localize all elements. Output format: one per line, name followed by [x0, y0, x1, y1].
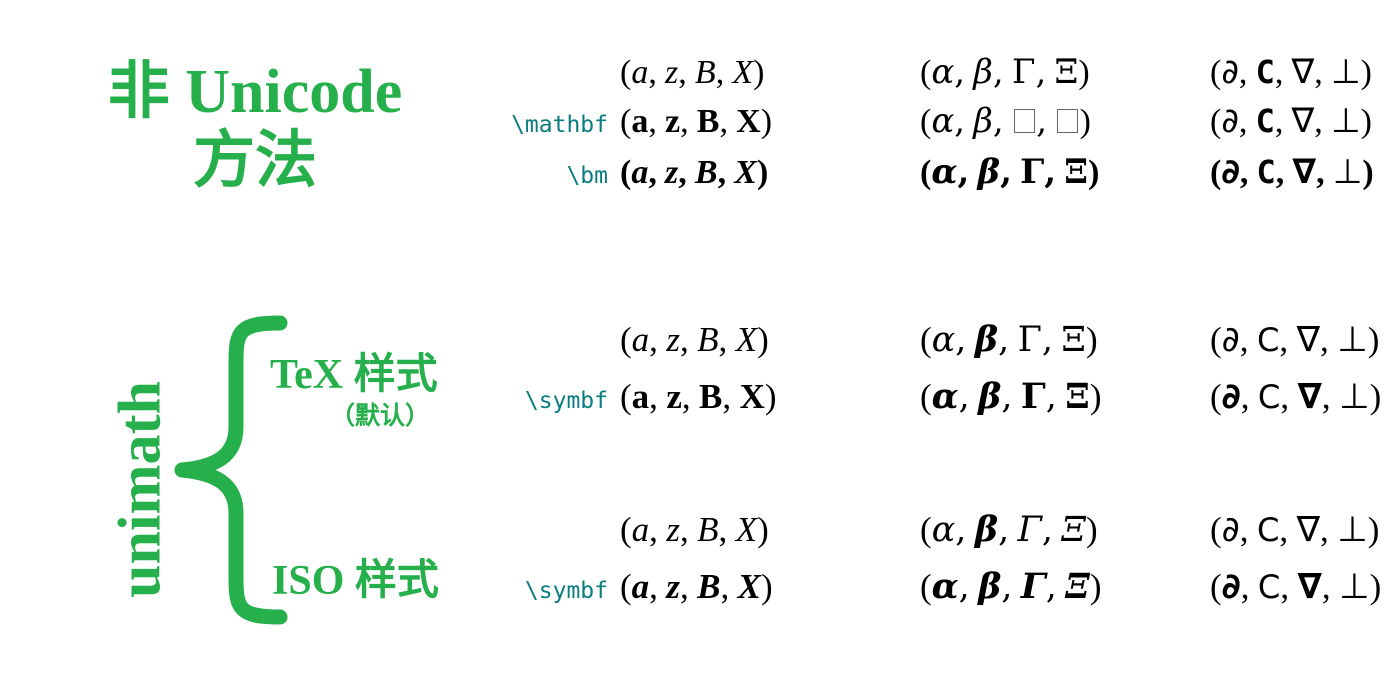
- symbol-cell-plain: (∂, C, ∇, ⊥): [1210, 48, 1400, 97]
- latin-cell-iso-plain: (a, z, B, X): [620, 502, 920, 559]
- latin-cell-bm: (a, z, B, X): [620, 147, 920, 198]
- greek-cell-iso-plain: (α, β, Γ, Ξ): [920, 502, 1210, 559]
- symbol-cell-bm: (∂, C, ∇, ⊥): [1210, 147, 1400, 198]
- non-unicode-title-line2: 方法: [55, 127, 455, 196]
- greek-cell-plain: (α, β, Γ, Ξ): [920, 48, 1210, 97]
- command-label-symbf-tex: \symbf: [470, 388, 620, 414]
- iso-style-label: ISO 样式: [272, 546, 439, 607]
- symbol-cell-tex-symbf: (∂, C, ∇, ⊥): [1210, 369, 1400, 426]
- non-unicode-title: 非 Unicode 方法: [55, 58, 455, 197]
- symbol-cell-mathbf: (∂, C, ∇, ⊥): [1210, 97, 1400, 146]
- iso-style-math-table: (a, z, B, X) (α, β, Γ, Ξ) (∂, C, ∇, ⊥) \…: [470, 502, 1400, 615]
- command-label-bm: \bm: [470, 163, 620, 189]
- latin-cell-iso-symbf: (a, z, B, X): [620, 559, 920, 616]
- non-unicode-title-line1: 非 Unicode: [55, 58, 455, 127]
- latin-cell-plain: (a, z, B, X): [620, 49, 920, 97]
- greek-cell-iso-symbf: (α, β, Γ, Ξ): [920, 559, 1210, 616]
- command-label-mathbf: \mathbf: [470, 112, 620, 138]
- latin-cell-tex-symbf: (a, z, B, X): [620, 369, 920, 426]
- command-label-symbf-iso: \symbf: [470, 578, 620, 604]
- tex-style-label: TeX 样式: [270, 340, 438, 401]
- symbol-cell-iso-plain: (∂, C, ∇, ⊥): [1210, 502, 1400, 559]
- missing-glyph-box: [1014, 109, 1035, 133]
- symbol-cell-iso-symbf: (∂, C, ∇, ⊥): [1210, 559, 1400, 616]
- tex-style-math-table: (a, z, B, X) (α, β, Γ, Ξ) (∂, C, ∇, ⊥) \…: [470, 312, 1400, 425]
- symbol-cell-tex-plain: (∂, C, ∇, ⊥): [1210, 312, 1400, 369]
- latin-cell-mathbf: (a, z, B, X): [620, 98, 920, 146]
- unimath-label: unimath: [106, 325, 175, 655]
- greek-cell-tex-plain: (α, β, Γ, Ξ): [920, 312, 1210, 369]
- non-unicode-math-table: (a, z, B, X) (α, β, Γ, Ξ) (∂, C, ∇, ⊥) \…: [470, 48, 1400, 198]
- latin-cell-tex-plain: (a, z, B, X): [620, 312, 920, 369]
- missing-glyph-box: [1057, 109, 1078, 133]
- greek-cell-tex-symbf: (α, β, Γ, Ξ): [920, 369, 1210, 426]
- greek-cell-mathbf: (α, β, , ): [920, 97, 1210, 146]
- tex-style-default-note: （默认）: [270, 396, 490, 432]
- greek-cell-bm: (α, β, Γ, Ξ): [920, 147, 1210, 198]
